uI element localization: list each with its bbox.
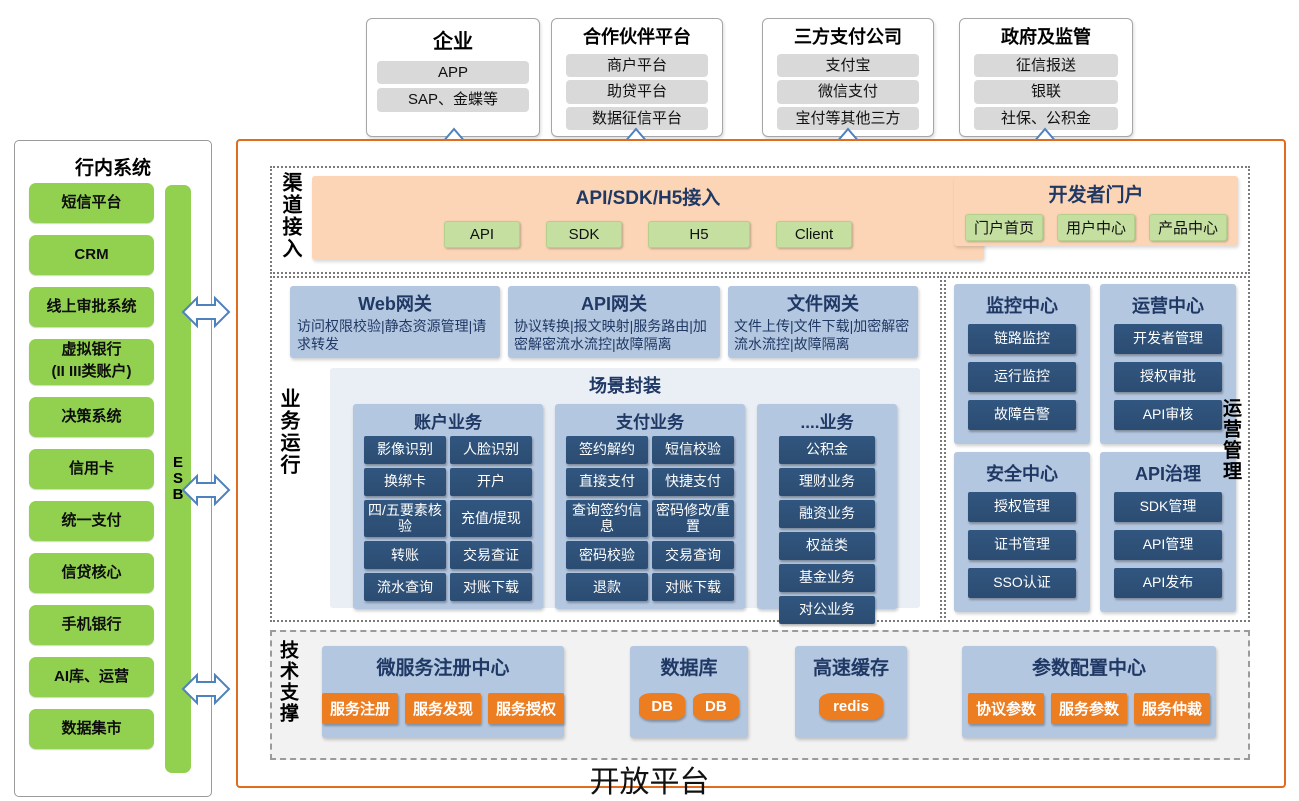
external-item[interactable]: 微信支付 bbox=[777, 80, 919, 103]
tech-chip-service-param[interactable]: 服务参数 bbox=[1051, 693, 1127, 724]
channel-chip-client[interactable]: Client bbox=[776, 221, 852, 248]
external-item[interactable]: 数据征信平台 bbox=[566, 107, 708, 130]
gateway-row: Web网关 访问权限校验|静态资源管理|请求转发 API网关 协议转换|报文映射… bbox=[290, 286, 918, 358]
external-box-title: 企业 bbox=[367, 19, 539, 57]
ops-panel-item[interactable]: 开发者管理 bbox=[1114, 324, 1222, 354]
portal-chip-product-center[interactable]: 产品中心 bbox=[1149, 214, 1227, 241]
database-icon[interactable]: DB bbox=[639, 693, 685, 720]
ops-panel-title: 监控中心 bbox=[954, 284, 1090, 324]
scene-group-row: 账户业务影像识别人脸识别换绑卡开户四/五要素核验充值/提现转账交易查证流水查询对… bbox=[330, 404, 920, 609]
business-running-section: 业务运行 Web网关 访问权限校验|静态资源管理|请求转发 API网关 协议转换… bbox=[270, 276, 942, 622]
scene-group-1: 账户业务影像识别人脸识别换绑卡开户四/五要素核验充值/提现转账交易查证流水查询对… bbox=[353, 404, 543, 609]
portal-chip-home[interactable]: 门户首页 bbox=[965, 214, 1043, 241]
bank-system-label: 虚拟银行 bbox=[61, 341, 121, 358]
scene-encapsulation-panel: 场景封装 账户业务影像识别人脸识别换绑卡开户四/五要素核验充值/提现转账交易查证… bbox=[330, 368, 920, 608]
scene-item-chip[interactable]: 充值/提现 bbox=[450, 500, 532, 537]
portal-chip-user-center[interactable]: 用户中心 bbox=[1057, 214, 1135, 241]
gateway-desc: 协议转换|报文映射|服务路由|加密解密流水流控|故障隔离 bbox=[508, 316, 720, 355]
tech-chip-service-authorization[interactable]: 服务授权 bbox=[488, 693, 564, 724]
bank-system-label: 短信平台 bbox=[61, 194, 121, 211]
external-box-title: 合作伙伴平台 bbox=[552, 19, 722, 51]
bank-system-item[interactable]: CRM bbox=[29, 235, 154, 275]
scene-item-chip[interactable]: 对公业务 bbox=[779, 596, 875, 624]
esb-label-e: E bbox=[173, 455, 183, 471]
api-sdk-h5-chip-row: API SDK H5 Client bbox=[312, 221, 984, 248]
scene-item-chip[interactable]: 交易查证 bbox=[450, 541, 532, 569]
scene-item-chip[interactable]: 转账 bbox=[364, 541, 446, 569]
scene-item-chip[interactable]: 影像识别 bbox=[364, 436, 446, 464]
bank-system-label: 统一支付 bbox=[61, 512, 121, 529]
gateway-card-file[interactable]: 文件网关 文件上传|文件下载|加密解密流水流控|故障隔离 bbox=[728, 286, 918, 358]
left-right-arrow-icon bbox=[182, 673, 230, 705]
scene-item-chip[interactable]: 基金业务 bbox=[779, 564, 875, 592]
ops-panel-1[interactable]: 监控中心链路监控运行监控故障告警 bbox=[954, 284, 1090, 444]
scene-item-chip[interactable]: 密码校验 bbox=[566, 541, 648, 569]
scene-item-chip[interactable]: 对账下载 bbox=[652, 573, 734, 601]
bank-system-item[interactable]: 信用卡 bbox=[29, 449, 154, 489]
tech-panel-title: 参数配置中心 bbox=[962, 646, 1216, 680]
tech-panel-database[interactable]: 数据库 DB DB bbox=[630, 646, 748, 738]
tech-support-section: 技术支撑 微服务注册中心 服务注册 服务发现 服务授权 数据库 DB DB 高速… bbox=[270, 630, 1250, 760]
bank-system-label: (II III类账户) bbox=[52, 363, 132, 380]
ops-panel-item[interactable]: API发布 bbox=[1114, 568, 1222, 598]
ops-panel-title: 运营中心 bbox=[1100, 284, 1236, 324]
tech-support-side-label: 技术支撑 bbox=[278, 640, 297, 724]
gateway-title: 文件网关 bbox=[728, 286, 918, 316]
gateway-title: API网关 bbox=[508, 286, 720, 316]
bank-system-item[interactable]: 短信平台 bbox=[29, 183, 154, 223]
external-item[interactable]: 支付宝 bbox=[777, 54, 919, 77]
bank-system-label: 线上审批系统 bbox=[46, 298, 136, 315]
tech-panel-param-config-center[interactable]: 参数配置中心 协议参数 服务参数 服务仲裁 bbox=[962, 646, 1216, 738]
api-sdk-h5-access-panel: API/SDK/H5接入 API SDK H5 Client bbox=[312, 176, 984, 260]
tech-panel-title: 高速缓存 bbox=[795, 646, 907, 680]
bank-panel-title: 行内系统 bbox=[15, 141, 211, 180]
external-item[interactable]: 助贷平台 bbox=[566, 80, 708, 103]
business-running-side-label: 业务运行 bbox=[278, 388, 298, 476]
ops-panel-item[interactable]: API审核 bbox=[1114, 400, 1222, 430]
ops-panel-item[interactable]: 运行监控 bbox=[968, 362, 1076, 392]
ops-management-section: 监控中心链路监控运行监控故障告警运营中心开发者管理授权审批API审核安全中心授权… bbox=[944, 276, 1250, 622]
bank-system-item[interactable]: 统一支付 bbox=[29, 501, 154, 541]
scene-item-chip[interactable]: 开户 bbox=[450, 468, 532, 496]
bank-system-item[interactable]: AI库、运营 bbox=[29, 657, 154, 697]
ops-panel-item[interactable]: SDK管理 bbox=[1114, 492, 1222, 522]
gateway-title: Web网关 bbox=[290, 286, 500, 316]
external-box-title: 三方支付公司 bbox=[763, 19, 933, 51]
ops-management-side-label: 运营管理 bbox=[1221, 398, 1240, 482]
scene-group-items: 影像识别人脸识别换绑卡开户四/五要素核验充值/提现转账交易查证流水查询对账下载 bbox=[353, 436, 543, 601]
tech-chip-row: 协议参数 服务参数 服务仲裁 bbox=[962, 693, 1216, 724]
tech-panel-microservice-registry[interactable]: 微服务注册中心 服务注册 服务发现 服务授权 bbox=[322, 646, 564, 738]
left-right-arrow-icon bbox=[182, 474, 230, 506]
ops-panel-2[interactable]: 运营中心开发者管理授权审批API审核 bbox=[1100, 284, 1236, 444]
ops-panel-item[interactable]: 链路监控 bbox=[968, 324, 1076, 354]
scene-group-title: ....业务 bbox=[757, 404, 897, 436]
external-box-enterprise: 企业 APP SAP、金蝶等 bbox=[366, 18, 540, 137]
scene-group-title: 账户业务 bbox=[353, 404, 543, 436]
scene-item-chip[interactable]: 查询签约信息 bbox=[566, 500, 648, 537]
external-box-government-regulator: 政府及监管 征信报送 银联 社保、公积金 bbox=[959, 18, 1133, 137]
tech-chip-row: DB DB bbox=[630, 693, 748, 720]
bank-system-label: 数据集市 bbox=[61, 720, 121, 737]
scene-group-2: 支付业务签约解约短信校验直接支付快捷支付查询签约信息密码修改/重置密码校验交易查… bbox=[555, 404, 745, 609]
gateway-card-api[interactable]: API网关 协议转换|报文映射|服务路由|加密解密流水流控|故障隔离 bbox=[508, 286, 720, 358]
scene-item-chip[interactable]: 融资业务 bbox=[779, 500, 875, 528]
external-item[interactable]: SAP、金蝶等 bbox=[377, 88, 529, 111]
scene-item-chip[interactable]: 流水查询 bbox=[364, 573, 446, 601]
external-box-partner-platform: 合作伙伴平台 商户平台 助贷平台 数据征信平台 bbox=[551, 18, 723, 137]
developer-portal-title: 开发者门户 bbox=[954, 176, 1238, 207]
tech-panel-title: 微服务注册中心 bbox=[322, 646, 564, 680]
bank-system-label: CRM bbox=[74, 246, 108, 263]
bank-system-label: 决策系统 bbox=[61, 408, 121, 425]
tech-chip-row: 服务注册 服务发现 服务授权 bbox=[322, 693, 564, 724]
ops-panel-item[interactable]: API管理 bbox=[1114, 530, 1222, 560]
tech-chip-service-discovery[interactable]: 服务发现 bbox=[405, 693, 481, 724]
scene-encapsulation-title: 场景封装 bbox=[330, 368, 920, 398]
page-title: 开放平台 bbox=[0, 757, 1299, 801]
ops-panel-item[interactable]: 证书管理 bbox=[968, 530, 1076, 560]
tech-chip-protocol-param[interactable]: 协议参数 bbox=[968, 693, 1044, 724]
bank-system-item[interactable]: 信贷核心 bbox=[29, 553, 154, 593]
external-box-third-party-payment: 三方支付公司 支付宝 微信支付 宝付等其他三方 bbox=[762, 18, 934, 137]
tech-chip-row: redis bbox=[795, 693, 907, 720]
scene-item-chip[interactable]: 密码修改/重置 bbox=[652, 500, 734, 537]
external-item[interactable]: 银联 bbox=[974, 80, 1118, 103]
bank-system-label: 信用卡 bbox=[69, 460, 114, 477]
developer-portal-panel: 开发者门户 门户首页 用户中心 产品中心 bbox=[954, 176, 1238, 246]
scene-item-chip[interactable]: 快捷支付 bbox=[652, 468, 734, 496]
scene-item-chip[interactable]: 直接支付 bbox=[566, 468, 648, 496]
scene-item-chip[interactable]: 公积金 bbox=[779, 436, 875, 464]
scene-item-chip[interactable]: 退款 bbox=[566, 573, 648, 601]
scene-group-3: ....业务公积金理财业务融资业务权益类基金业务对公业务 bbox=[757, 404, 897, 609]
database-icon[interactable]: DB bbox=[693, 693, 739, 720]
scene-item-chip[interactable]: 四/五要素核验 bbox=[364, 500, 446, 537]
gateway-desc: 文件上传|文件下载|加密解密流水流控|故障隔离 bbox=[728, 316, 918, 355]
bank-system-item[interactable]: 虚拟银行(II III类账户) bbox=[29, 339, 154, 385]
scene-group-title: 支付业务 bbox=[555, 404, 745, 436]
scene-item-chip[interactable]: 短信校验 bbox=[652, 436, 734, 464]
ops-panel-item[interactable]: 故障告警 bbox=[968, 400, 1076, 430]
external-item[interactable]: APP bbox=[377, 61, 529, 84]
bank-system-item[interactable]: 手机银行 bbox=[29, 605, 154, 645]
gateway-desc: 访问权限校验|静态资源管理|请求转发 bbox=[290, 316, 500, 355]
ops-panel-item[interactable]: 授权审批 bbox=[1114, 362, 1222, 392]
external-item[interactable]: 征信报送 bbox=[974, 54, 1118, 77]
tech-chip-service-register[interactable]: 服务注册 bbox=[322, 693, 398, 724]
scene-item-chip[interactable]: 对账下载 bbox=[450, 573, 532, 601]
ops-panel-4[interactable]: API治理SDK管理API管理API发布 bbox=[1100, 452, 1236, 612]
bank-system-item[interactable]: 决策系统 bbox=[29, 397, 154, 437]
redis-icon[interactable]: redis bbox=[819, 693, 883, 720]
scene-item-chip[interactable]: 人脸识别 bbox=[450, 436, 532, 464]
scene-group-items: 签约解约短信校验直接支付快捷支付查询签约信息密码修改/重置密码校验交易查询退款对… bbox=[555, 436, 745, 601]
scene-item-chip[interactable]: 换绑卡 bbox=[364, 468, 446, 496]
scene-item-chip[interactable]: 交易查询 bbox=[652, 541, 734, 569]
external-item[interactable]: 社保、公积金 bbox=[974, 107, 1118, 130]
channel-access-section: 渠道接入 API/SDK/H5接入 API SDK H5 Client 开发者门… bbox=[270, 166, 1250, 274]
bank-system-list: 短信平台CRM线上审批系统虚拟银行(II III类账户)决策系统信用卡统一支付信… bbox=[29, 183, 154, 761]
channel-chip-sdk[interactable]: SDK bbox=[546, 221, 622, 248]
bank-system-item[interactable]: 线上审批系统 bbox=[29, 287, 154, 327]
channel-access-side-label: 渠道接入 bbox=[280, 172, 300, 266]
external-item[interactable]: 宝付等其他三方 bbox=[777, 107, 919, 130]
gateway-card-web[interactable]: Web网关 访问权限校验|静态资源管理|请求转发 bbox=[290, 286, 500, 358]
channel-chip-h5[interactable]: H5 bbox=[648, 221, 750, 248]
tech-chip-service-arbitration[interactable]: 服务仲裁 bbox=[1134, 693, 1210, 724]
bank-system-label: 手机银行 bbox=[61, 616, 121, 633]
bank-system-label: AI库、运营 bbox=[54, 668, 129, 685]
bank-system-label: 信贷核心 bbox=[61, 564, 121, 581]
scene-item-chip[interactable]: 理财业务 bbox=[779, 468, 875, 496]
ops-panel-title: 安全中心 bbox=[954, 452, 1090, 492]
api-sdk-h5-access-title: API/SDK/H5接入 bbox=[312, 176, 984, 210]
ops-panel-item[interactable]: 授权管理 bbox=[968, 492, 1076, 522]
left-right-arrow-icon bbox=[182, 296, 230, 328]
channel-chip-api[interactable]: API bbox=[444, 221, 520, 248]
diagram-canvas: 企业 APP SAP、金蝶等 合作伙伴平台 商户平台 助贷平台 数据征信平台 三… bbox=[0, 0, 1299, 799]
ops-panel-title: API治理 bbox=[1100, 452, 1236, 492]
scene-item-chip[interactable]: 签约解约 bbox=[566, 436, 648, 464]
ops-panel-3[interactable]: 安全中心授权管理证书管理SSO认证 bbox=[954, 452, 1090, 612]
tech-panel-cache[interactable]: 高速缓存 redis bbox=[795, 646, 907, 738]
scene-group-items: 公积金理财业务融资业务权益类基金业务对公业务 bbox=[757, 436, 897, 624]
external-item[interactable]: 商户平台 bbox=[566, 54, 708, 77]
external-box-title: 政府及监管 bbox=[960, 19, 1132, 51]
developer-portal-chip-row: 门户首页 用户中心 产品中心 bbox=[954, 214, 1238, 241]
tech-panel-title: 数据库 bbox=[630, 646, 748, 680]
bank-system-item[interactable]: 数据集市 bbox=[29, 709, 154, 749]
ops-panel-grid: 监控中心链路监控运行监控故障告警运营中心开发者管理授权审批API审核安全中心授权… bbox=[954, 284, 1236, 612]
ops-panel-item[interactable]: SSO认证 bbox=[968, 568, 1076, 598]
scene-item-chip[interactable]: 权益类 bbox=[779, 532, 875, 560]
